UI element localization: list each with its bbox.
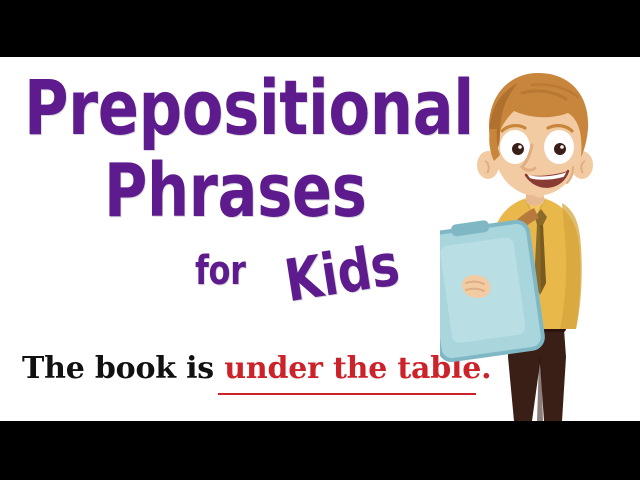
- eye-right-shape: [544, 130, 574, 164]
- example-sentence-plain: The book is: [22, 351, 224, 386]
- title-line-phrases: Phrases: [104, 154, 367, 228]
- eye-left-shape: [500, 130, 530, 164]
- title-line-prepositional: Prepositional: [24, 70, 474, 146]
- letterbox-bar-top: [0, 0, 640, 57]
- prepositional-phrase-underline: [218, 393, 476, 395]
- title-line-kids: Kids: [281, 235, 403, 310]
- clipboard-shape: [440, 220, 544, 362]
- letterbox-bar-bottom: [0, 421, 640, 480]
- title-line-for: for: [195, 251, 245, 291]
- cartoon-teacher-illustration: [440, 57, 640, 421]
- example-sentence: The book is under the table.: [22, 353, 491, 385]
- slide-screen: Prepositional Phrases for Kids The book …: [0, 0, 640, 480]
- slide-canvas: Prepositional Phrases for Kids The book …: [0, 57, 640, 421]
